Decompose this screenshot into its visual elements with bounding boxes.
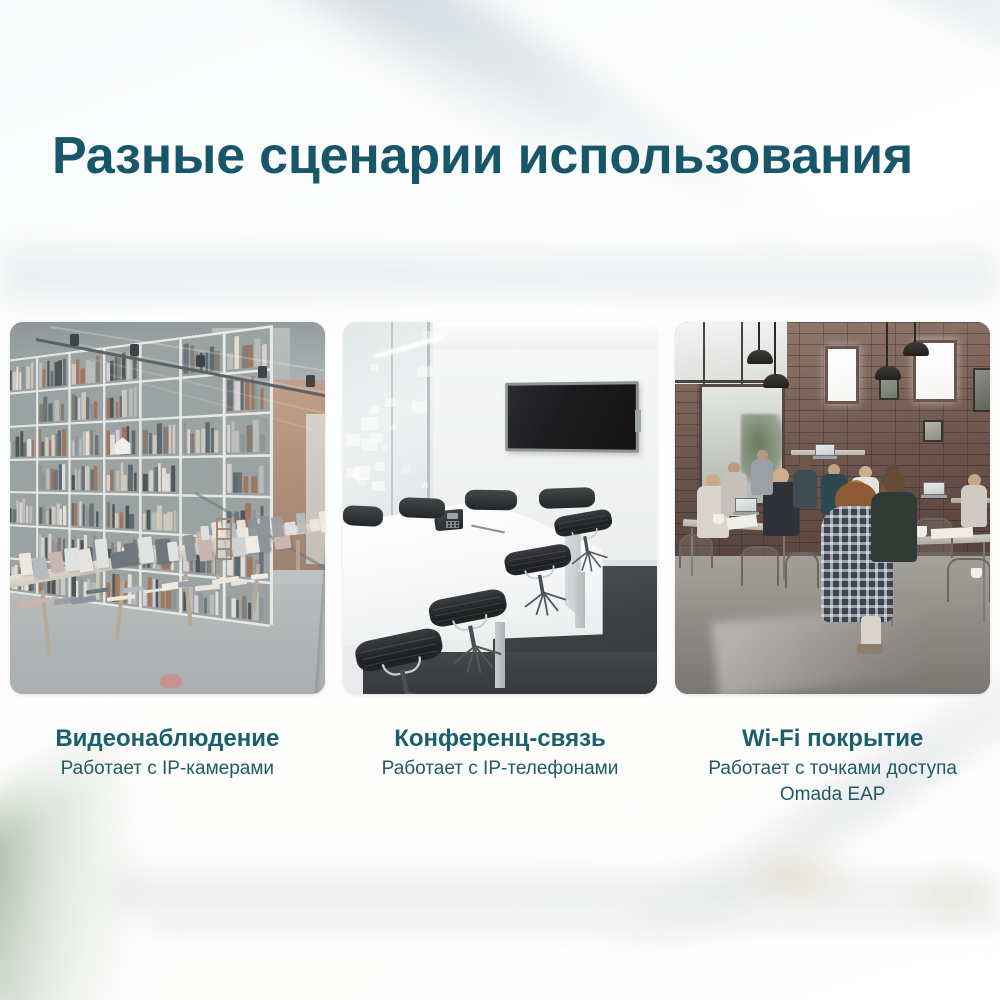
display-book-back (200, 526, 210, 540)
book-spine (85, 360, 89, 383)
book-spine (39, 507, 42, 525)
display-book-back (284, 521, 297, 535)
table-leg-back (296, 540, 300, 570)
book-spine (81, 466, 84, 491)
book-spine (215, 591, 218, 615)
book-spine (74, 503, 77, 526)
book-spine (79, 439, 81, 455)
book-spine (132, 430, 136, 454)
shelf-cell (38, 389, 66, 421)
book-spine (234, 557, 240, 576)
display-book-back (259, 516, 271, 536)
frosted-glass-square (381, 445, 388, 451)
book-spine (82, 504, 84, 526)
book-spine (124, 475, 128, 491)
frosted-glass-square (375, 462, 386, 470)
book-spine (149, 433, 152, 454)
cafe-laptop (815, 444, 835, 460)
book-spine (26, 366, 30, 389)
book-spine (147, 510, 151, 530)
book-spine (11, 441, 15, 457)
book-spine (46, 469, 49, 490)
display-book-back (309, 519, 320, 532)
frosted-glass-square (370, 364, 378, 371)
book-spine (238, 473, 243, 494)
book-spine (149, 471, 153, 492)
book-spine (210, 595, 214, 615)
book-spine (158, 464, 161, 492)
book-spine (91, 361, 96, 382)
book-spine (227, 597, 230, 617)
book-spine (259, 597, 264, 621)
scenario-image-row (10, 322, 990, 694)
frosted-glass-square (346, 434, 361, 446)
book-spine (119, 512, 123, 529)
book-spine (75, 436, 78, 455)
pendant-cord (758, 322, 760, 350)
book-spine (43, 370, 46, 388)
book-spine (125, 506, 129, 529)
track-spotlight (258, 366, 267, 378)
frosted-glass-square (361, 417, 377, 430)
page-title: Разные сценарии использования (52, 126, 962, 186)
shelf-cell (105, 495, 137, 529)
caption-heading: Видеонаблюдение (10, 724, 325, 753)
book-spine (12, 372, 16, 390)
book-spine (45, 437, 48, 455)
book-spine (50, 371, 53, 387)
book-spine (152, 435, 156, 454)
shelf-cell (38, 424, 66, 455)
book-spine (20, 431, 23, 457)
scenario-image-wifi-cafe (675, 322, 990, 694)
caption-subtitle: Работает с точками доступа Omada EAP (675, 756, 990, 807)
cafe-person-foreground-right (871, 470, 917, 562)
laptop-base (921, 495, 947, 498)
shelf-cell (105, 458, 137, 491)
shelf-cell (70, 423, 100, 456)
caption-conference: Конференц-связь Работает с IP-телефонами (343, 724, 658, 807)
scenario-image-video-surveillance (10, 322, 325, 694)
frosted-glass-square (412, 401, 427, 413)
book-spine (12, 509, 16, 523)
book-spine (206, 422, 210, 452)
caption-subtitle: Работает с IP-камерами (10, 756, 325, 781)
wall-art-3 (923, 420, 943, 442)
book-spine (52, 507, 56, 525)
book-spine (57, 503, 60, 525)
book-spine (80, 368, 84, 384)
book-spine (119, 396, 121, 417)
book-spine (78, 469, 80, 491)
cafe-window-1 (825, 346, 859, 404)
caption-subtitle: Работает с IP-телефонами (343, 756, 658, 781)
book-spine (187, 428, 190, 452)
display-book-upright (94, 538, 109, 568)
floor-object (160, 674, 182, 688)
phone-screen (447, 513, 458, 519)
book-spine (90, 470, 93, 491)
book-spine (151, 513, 156, 531)
cafe-stool (947, 558, 990, 602)
book-spine (85, 466, 89, 491)
shelf-cell (105, 421, 137, 455)
book-spine (39, 465, 42, 490)
book-spine (191, 433, 195, 452)
book-spine (161, 591, 165, 608)
book-spine (231, 598, 235, 618)
book-spine (231, 421, 234, 452)
book-spine (90, 404, 93, 419)
book-spine (235, 430, 239, 451)
book-spine (59, 465, 62, 491)
shelf-cell (70, 495, 100, 528)
book-spine (240, 434, 245, 452)
book-spine (106, 430, 110, 455)
book-spine (86, 397, 89, 419)
book-spine (81, 392, 85, 419)
book-spine (260, 434, 265, 451)
book-spine (61, 403, 64, 420)
shelf-cell (10, 358, 34, 390)
cafe-person-back-1 (751, 450, 773, 497)
book-spine (52, 435, 55, 456)
book-spine (110, 435, 115, 455)
wall-art-2 (973, 368, 990, 412)
book-spine (152, 579, 155, 608)
book-spine (71, 364, 75, 384)
track-spotlight (306, 375, 315, 387)
book-spine (63, 506, 66, 526)
pendant-shade (875, 366, 901, 380)
book-spine (162, 468, 166, 492)
shelf-cell (10, 460, 34, 490)
pendant-light (875, 322, 901, 382)
book-spine (78, 398, 80, 419)
window-mullion (703, 322, 705, 384)
frosted-glass-square (402, 465, 412, 473)
cafe-cup-3 (971, 568, 982, 578)
book-spine (22, 367, 26, 390)
book-spine (184, 422, 187, 452)
book-spine (120, 462, 122, 491)
pendant-light (903, 322, 929, 358)
book-spine (234, 336, 238, 369)
chair-far-left (465, 490, 517, 511)
frosted-glass-square (362, 439, 377, 451)
book-spine (48, 404, 52, 421)
track-spotlight (196, 355, 205, 367)
book-spine (143, 473, 148, 491)
tv-wall-mount (635, 410, 641, 432)
shelf-cell (38, 354, 66, 387)
book-spine (86, 431, 89, 454)
book-spine (95, 435, 98, 454)
cafe-person-cap (793, 460, 817, 510)
laptop-screen (815, 444, 835, 456)
book-spine (154, 466, 158, 492)
book-spine (251, 477, 257, 494)
book-spine (211, 428, 214, 452)
book-spine (166, 474, 170, 493)
book-spine (116, 471, 120, 491)
shelf-cell (38, 460, 66, 491)
book-spine (196, 430, 200, 453)
book-spine (31, 363, 33, 389)
frosted-glass-square (357, 478, 366, 486)
book-spine (96, 511, 98, 527)
cafe-stool (741, 546, 779, 586)
book-spine (169, 425, 172, 453)
book-spine (134, 473, 138, 492)
book-spine (85, 506, 88, 526)
shelf-divider-vertical (270, 325, 273, 625)
book-spine (71, 441, 74, 456)
book-spine (204, 597, 207, 614)
pendant-shade (763, 374, 789, 388)
book-spine (106, 363, 110, 381)
book-spine (143, 429, 148, 453)
book-spine (62, 464, 65, 490)
shelf-cell (182, 416, 220, 453)
frosted-glass-square (385, 398, 396, 407)
display-book-back (248, 518, 259, 536)
book-spine (261, 344, 266, 367)
display-book-back (236, 519, 247, 537)
laptop-screen (735, 498, 757, 512)
shelf-cell (182, 457, 220, 493)
frosted-glass-square (391, 425, 397, 430)
meeting-ceiling (429, 322, 658, 350)
book-spine (94, 401, 97, 419)
shelf-cell (226, 580, 267, 621)
chair-far-right (538, 487, 595, 509)
book-spine (163, 426, 168, 453)
cafe-person-right (961, 474, 987, 529)
person-torso (751, 459, 773, 495)
book-spine (233, 473, 237, 493)
book-spine (174, 511, 177, 531)
book-spine (143, 514, 146, 530)
book-spine (130, 514, 135, 530)
background-plant (0, 800, 270, 1000)
book-spine (172, 586, 177, 610)
display-book-upright (48, 551, 64, 573)
book-spine (236, 600, 239, 618)
book-spine (16, 437, 20, 457)
book-spine (43, 473, 46, 490)
book-spine (201, 429, 205, 452)
book-spine (94, 466, 97, 490)
book-spine (163, 514, 167, 531)
book-spine (253, 420, 259, 451)
book-spine (110, 470, 114, 491)
person-torso (793, 470, 817, 508)
book-spine (199, 593, 203, 614)
book-spine (43, 505, 46, 524)
scenario-image-conference (343, 322, 658, 694)
pendant-cord (886, 322, 888, 366)
cafe-stool (785, 552, 819, 588)
chair-far-left-2 (398, 497, 445, 519)
book-spine (42, 442, 45, 456)
track-spotlight (70, 334, 79, 346)
book-spine (157, 505, 162, 531)
book-spine (258, 465, 263, 493)
pendant-light (763, 322, 789, 390)
book-spine (134, 387, 136, 416)
shelf-cell (142, 458, 177, 492)
book-spine (128, 465, 133, 491)
book-spine (106, 474, 110, 491)
book-spine (54, 470, 58, 490)
caption-heading: Wi-Fi покрытие (675, 724, 990, 753)
shelf-cell (70, 386, 100, 420)
book-spine (58, 430, 61, 455)
book-spine (116, 402, 118, 417)
book-spine (157, 423, 162, 453)
wooden-ladder (216, 518, 232, 560)
person-torso (871, 492, 917, 562)
table-leg-back (575, 572, 585, 628)
book-spine (168, 511, 173, 531)
background-warm-glow-2 (905, 870, 1000, 925)
book-spine (166, 591, 171, 609)
book-spine (44, 396, 48, 421)
person-head (883, 470, 905, 494)
book-spine (71, 394, 74, 420)
book-spine (171, 466, 175, 492)
frosted-glass-square (422, 483, 428, 488)
shelf-cell (10, 493, 34, 523)
book-spine (106, 502, 110, 528)
book-spine (246, 425, 252, 451)
book-spine (156, 579, 159, 607)
person-torso (961, 485, 987, 527)
shelf-cell (10, 392, 34, 423)
laptop-screen (923, 482, 945, 495)
book-spine (76, 359, 79, 384)
shelf-cell (142, 419, 177, 454)
book-spine (122, 390, 127, 417)
frosted-glass-square (423, 331, 438, 343)
book-spine (254, 338, 260, 367)
book-spine (82, 431, 85, 454)
book-spine (19, 503, 22, 523)
book-spine (54, 362, 57, 387)
shelf-cell (70, 350, 100, 385)
book-spine (27, 439, 31, 456)
laptop-base (813, 456, 837, 459)
shelf-cell (70, 459, 100, 491)
book-spine (130, 388, 134, 416)
chair-far-left-3 (343, 505, 383, 527)
pendant-shade (903, 342, 929, 356)
shelf-cell (226, 456, 267, 493)
frosted-glass-square (402, 345, 407, 349)
book-spine (90, 430, 92, 455)
book-spine (96, 571, 99, 600)
book-spine (39, 404, 43, 422)
caption-heading: Конференц-связь (343, 724, 658, 753)
shelf-cell (142, 496, 177, 531)
book-spine (173, 425, 176, 453)
book-spine (55, 400, 59, 421)
frosted-glass-square (370, 406, 379, 414)
frosted-glass-square (418, 366, 433, 378)
book-spine (227, 425, 230, 452)
frosted-glass-square (372, 481, 385, 491)
shelf-cell (226, 414, 267, 452)
person-shoe (857, 644, 883, 654)
book-spine (241, 553, 246, 577)
book-spine (194, 595, 198, 612)
book-spine (63, 359, 66, 386)
meeting-glass-mullion (391, 322, 393, 540)
book-spine (39, 363, 42, 388)
pendant-cord (774, 322, 776, 374)
book-spine (227, 464, 231, 493)
book-spine (58, 360, 62, 386)
shelf-cell (105, 383, 137, 418)
book-spine (29, 506, 32, 524)
phone-keypad (446, 521, 459, 528)
background-desk-band-2 (150, 906, 1000, 940)
book-spine (62, 429, 66, 455)
book-spine (215, 431, 219, 453)
shelf-cell (10, 426, 34, 456)
window-mullion (741, 322, 743, 384)
book-spine (254, 381, 257, 410)
scenario-caption-row: Видеонаблюдение Работает с IP-камерами К… (10, 724, 990, 807)
book-spine (32, 440, 34, 456)
background-warm-glow-1 (740, 846, 860, 906)
book-spine (50, 469, 53, 491)
wall-mounted-tv (505, 381, 639, 453)
book-spine (243, 476, 248, 493)
book-spine (106, 397, 110, 417)
book-spine (234, 382, 240, 410)
book-spine (112, 504, 114, 528)
book-spine (79, 578, 82, 598)
book-spine (71, 475, 74, 490)
book-spine (110, 398, 114, 418)
caption-video-surveillance: Видеонаблюдение Работает с IP-камерами (10, 724, 325, 807)
pendant-cord (914, 322, 916, 342)
cafe-cup-1 (713, 514, 724, 524)
book-spine (115, 514, 119, 529)
book-spine (24, 442, 27, 456)
cafe-laptop (923, 482, 945, 499)
shelf-cell (38, 494, 66, 525)
book-spine (242, 595, 247, 619)
caption-wifi: Wi-Fi покрытие Работает с точками доступ… (675, 724, 990, 807)
book-spine (23, 499, 26, 524)
book-spine (89, 504, 94, 527)
book-spine (249, 344, 254, 368)
shelf-cell (226, 328, 267, 369)
track-spotlight (130, 344, 139, 356)
library-far-wall (306, 414, 325, 564)
